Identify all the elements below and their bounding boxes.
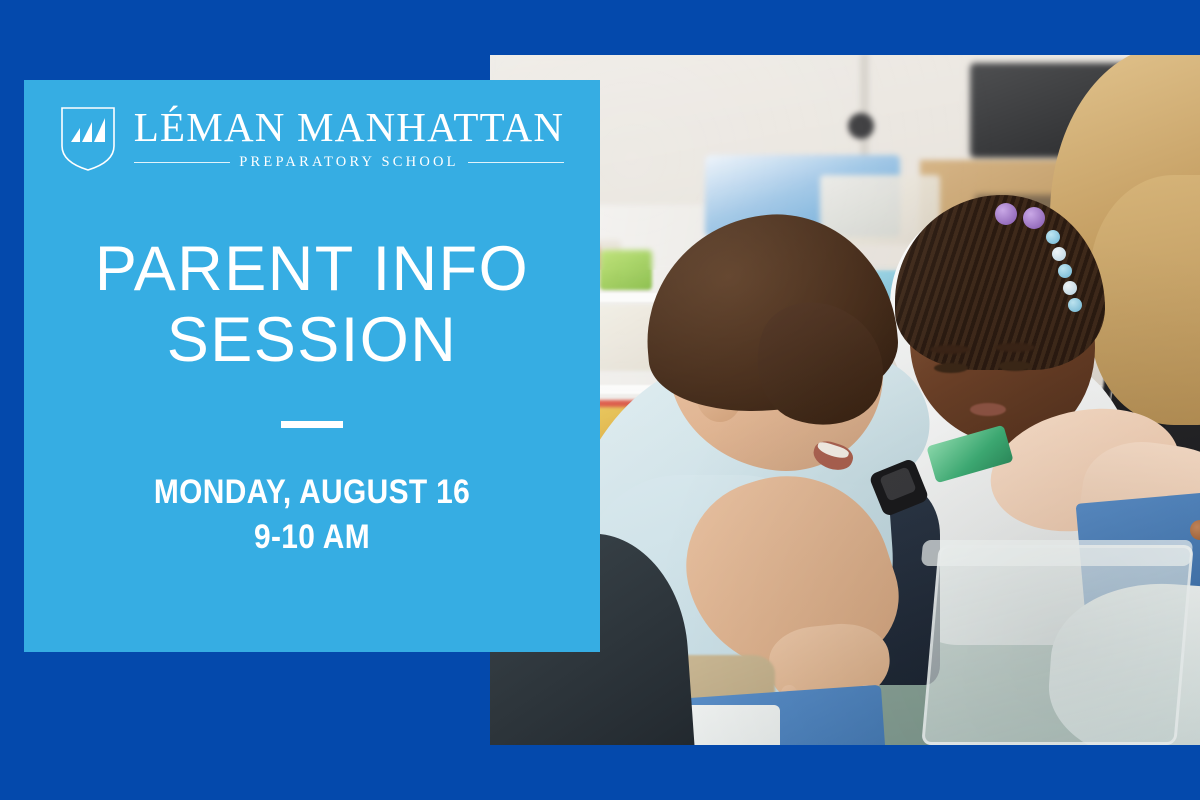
photo-hair-bead [1023, 207, 1045, 229]
headline-line-1: PARENT INFO [24, 234, 600, 305]
school-logo: LÉMAN MANHATTAN PREPARATORY SCHOOL [24, 80, 600, 172]
logo-text-block: LÉMAN MANHATTAN PREPARATORY SCHOOL [134, 107, 564, 171]
photo-girl-brow [995, 343, 1035, 352]
photo-girl-mouth [970, 403, 1006, 416]
event-details: MONDAY, AUGUST 16 9-10 AM [59, 470, 566, 560]
photo-clear-bin-rim [921, 540, 1193, 566]
school-subtitle: PREPARATORY SCHOOL [239, 154, 458, 171]
event-time: 9-10 AM [59, 515, 566, 560]
headline-line-2: SESSION [24, 305, 600, 376]
photo-hair-bead [1068, 298, 1082, 312]
photo-ball [848, 113, 874, 139]
photo-hair-bead [1063, 281, 1077, 295]
photo-hair-bead [1052, 247, 1066, 261]
subtitle-rule-right [468, 162, 564, 163]
photo-girl-eye [934, 363, 968, 373]
info-panel: LÉMAN MANHATTAN PREPARATORY SCHOOL PAREN… [24, 80, 600, 652]
subtitle-rule-left [134, 162, 230, 163]
page-title: PARENT INFO SESSION [24, 234, 600, 375]
shield-with-three-sails-icon [60, 106, 116, 172]
event-date: MONDAY, AUGUST 16 [59, 470, 566, 515]
poster-canvas: LÉMAN MANHATTAN PREPARATORY SCHOOL PAREN… [0, 0, 1200, 800]
photo-girl-brow [930, 345, 970, 354]
photo-hair-bead [995, 203, 1017, 225]
photo-bin [600, 250, 652, 290]
school-wordmark: LÉMAN MANHATTAN [134, 107, 564, 149]
title-divider [281, 421, 343, 428]
photo-girl-eye [998, 361, 1032, 371]
school-subtitle-row: PREPARATORY SCHOOL [134, 154, 564, 171]
photo-hair-bead [1046, 230, 1060, 244]
photo-clear-bin [921, 545, 1193, 745]
photo-hair-bead [1058, 264, 1072, 278]
